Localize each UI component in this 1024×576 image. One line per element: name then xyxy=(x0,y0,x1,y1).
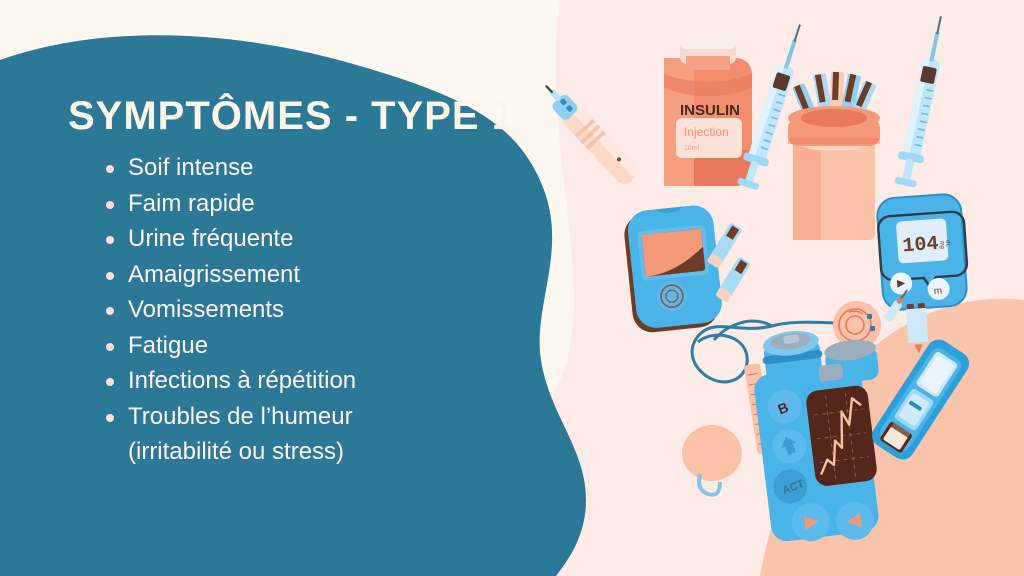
meter-menu-icon: m xyxy=(933,286,942,298)
diabetes-illustration-group: INSULIN Injection 10ml xyxy=(0,0,1024,576)
glucose-unit-mg: mg xyxy=(938,240,945,249)
insulin-label-injection: Injection xyxy=(684,125,729,139)
glucose-meter-right-icon: 104 mg dL m xyxy=(876,193,973,356)
slide-canvas: INSULIN Injection 10ml xyxy=(0,0,1024,576)
glucose-meter-left-icon xyxy=(622,204,724,335)
insulin-pen-icon xyxy=(867,335,973,464)
glucose-unit-dl: dL xyxy=(944,240,950,248)
test-strip-container-icon xyxy=(788,72,880,240)
lancet-pen-icon xyxy=(536,78,641,188)
syringe-icon-2 xyxy=(892,14,953,189)
glucose-reading-value: 104 xyxy=(902,233,940,258)
insulin-brand-text: INSULIN xyxy=(680,102,740,119)
infusion-set-patch-icon xyxy=(682,425,742,495)
insulin-vial-icon: INSULIN Injection 10ml xyxy=(664,38,752,186)
insulin-label-volume: 10ml xyxy=(684,145,700,152)
